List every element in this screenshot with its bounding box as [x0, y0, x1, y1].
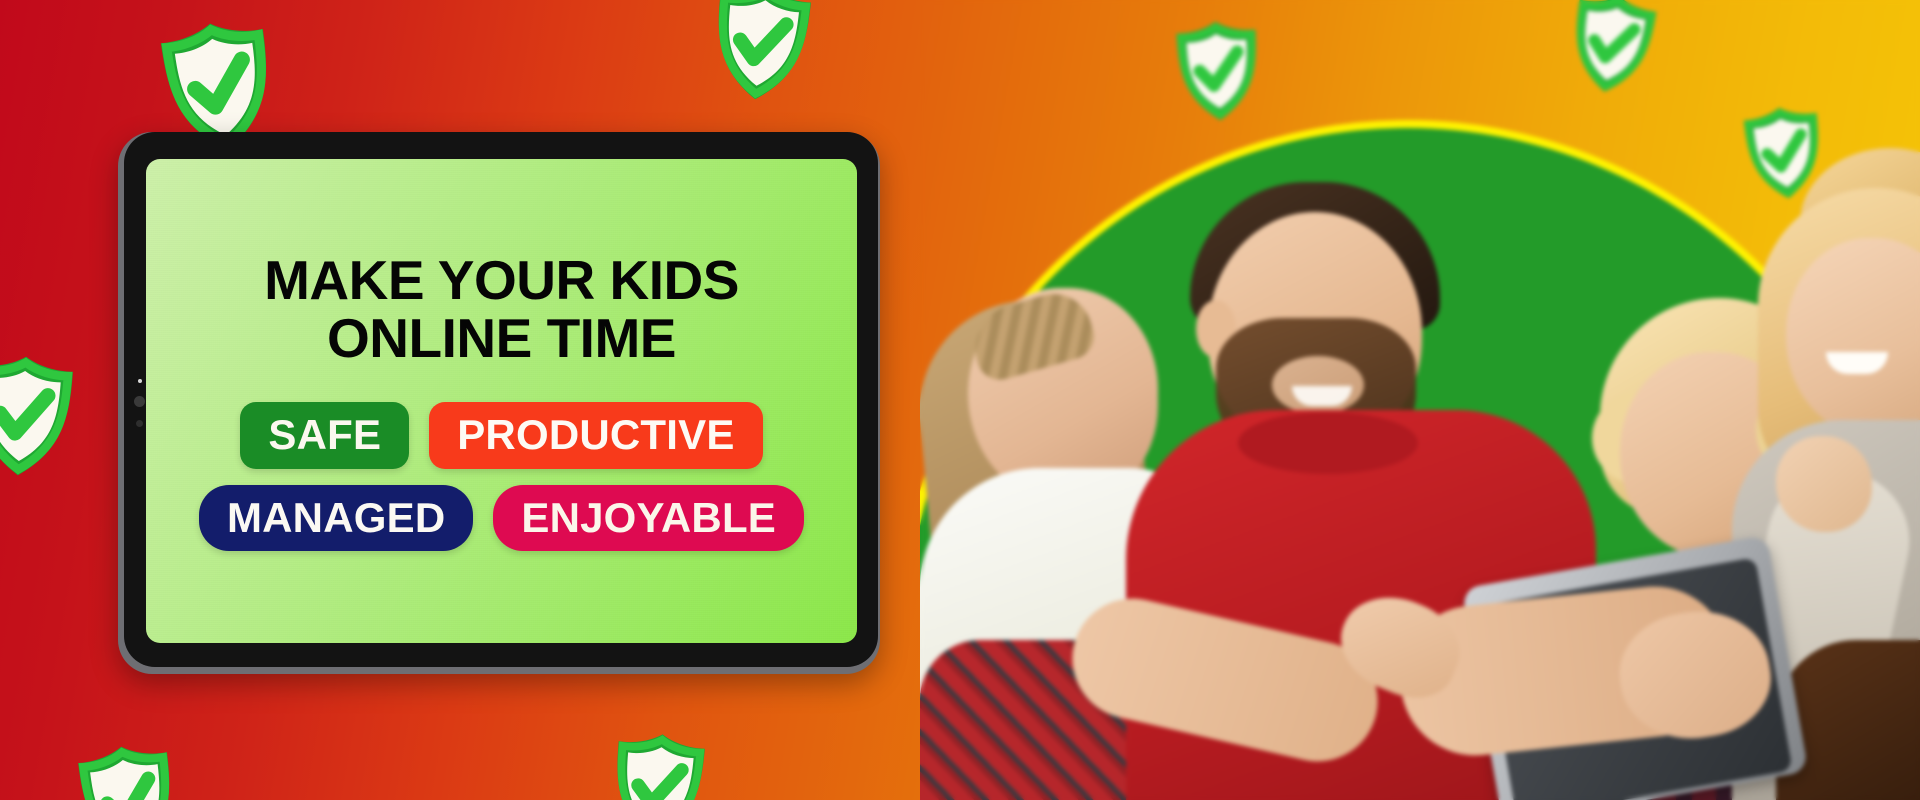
shield-check-icon — [595, 725, 721, 800]
badge-enjoyable[interactable]: ENJOYABLE — [493, 485, 804, 552]
tablet-screen: MAKE YOUR KIDS ONLINE TIME SAFE PRODUCTI… — [146, 159, 857, 643]
tablet-sensor-dots — [134, 379, 145, 427]
family-photo — [920, 0, 1920, 800]
badge-row-bottom: MANAGED ENJOYABLE — [199, 485, 804, 552]
tablet-button-upper[interactable] — [134, 396, 145, 407]
mother-hand — [1776, 436, 1872, 532]
screen-content: MAKE YOUR KIDS ONLINE TIME SAFE PRODUCTI… — [146, 251, 857, 552]
headline: MAKE YOUR KIDS ONLINE TIME — [264, 251, 739, 369]
feature-badge-grid: SAFE PRODUCTIVE MANAGED ENJOYABLE — [199, 402, 804, 551]
tablet-mockup: MAKE YOUR KIDS ONLINE TIME SAFE PRODUCTI… — [118, 132, 880, 674]
family-photo-scene — [920, 0, 1920, 800]
badge-row-top: SAFE PRODUCTIVE — [240, 402, 762, 469]
tablet-camera-icon — [138, 379, 142, 383]
badge-safe[interactable]: SAFE — [240, 402, 409, 469]
shield-check-icon — [61, 735, 195, 800]
badge-productive[interactable]: PRODUCTIVE — [429, 402, 762, 469]
shield-check-icon — [0, 348, 90, 485]
tablet-button-lower[interactable] — [136, 420, 143, 427]
badge-managed[interactable]: MANAGED — [199, 485, 473, 552]
father-collar — [1238, 412, 1418, 474]
shield-check-icon — [694, 0, 828, 110]
promo-banner: MAKE YOUR KIDS ONLINE TIME SAFE PRODUCTI… — [0, 0, 1920, 800]
